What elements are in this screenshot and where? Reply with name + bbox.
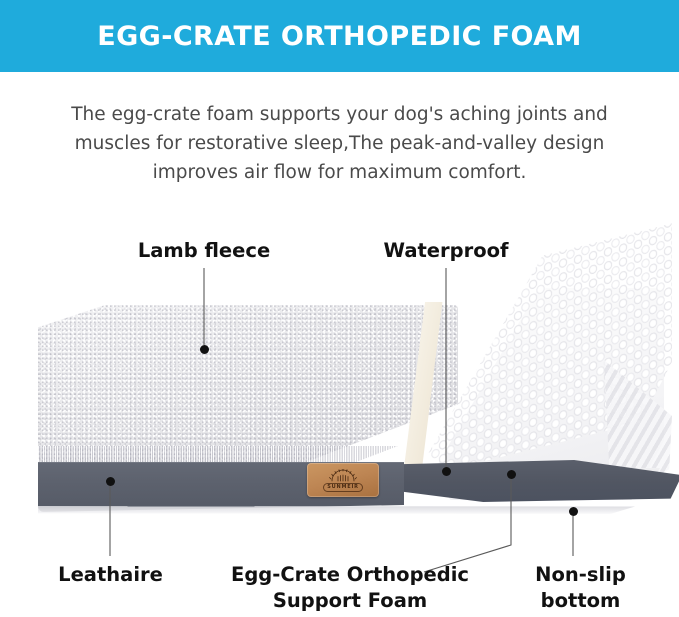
lamb-fleece-surface [38,305,458,465]
bottom-seam [38,506,660,514]
callout-dot-lamb-fleece [200,345,209,354]
brand-logo-patch: SUNMEIR [307,463,379,497]
callout-label-waterproof: Waterproof [366,238,526,264]
page-title: EGG-CRATE ORTHOPEDIC FOAM [97,21,581,52]
product-illustration: SUNMEIR [0,210,679,540]
sun-burst-icon [328,469,358,482]
brand-name: SUNMEIR [323,483,363,492]
callout-label-egg-crate: Egg-Crate Orthopedic Support Foam [205,562,495,614]
callout-dot-non-slip [569,507,578,516]
fleece-texture [38,305,458,465]
header-bar: EGG-CRATE ORTHOPEDIC FOAM [0,0,679,72]
callout-dot-leathaire [106,477,115,486]
callout-label-leathaire: Leathaire [28,562,193,588]
callout-label-lamb-fleece: Lamb fleece [109,238,299,264]
intro-paragraph: The egg-crate foam supports your dog's a… [52,100,627,187]
callout-dot-waterproof [442,467,451,476]
callout-label-non-slip: Non-slip bottom [508,562,653,614]
callout-dot-egg-crate [507,470,516,479]
